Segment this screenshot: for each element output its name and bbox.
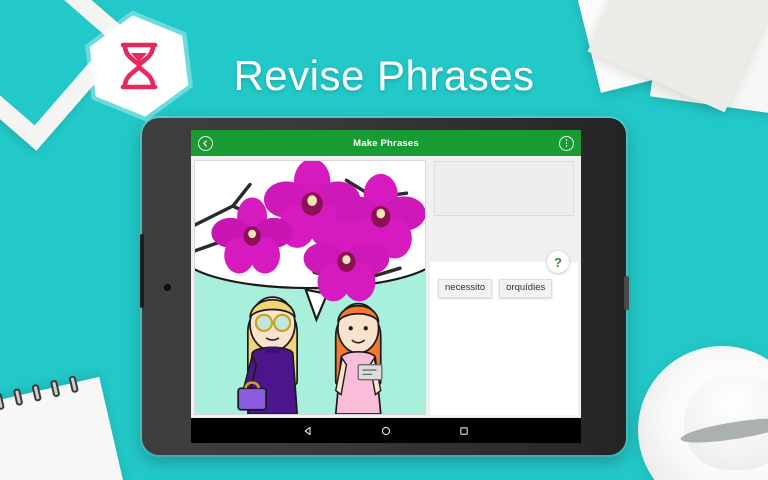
word-tile[interactable]: orquídies — [499, 279, 552, 298]
android-navigation-bar — [191, 418, 581, 443]
exercise-content: ? necessito orquídies — [191, 156, 581, 418]
notepad-spiral-rings — [0, 371, 95, 418]
answer-zone-spacer: ? — [430, 216, 578, 262]
panama-hat-decoration — [638, 346, 768, 480]
app-bar-title: Make Phrases — [191, 138, 581, 149]
answer-panel: ? necessito orquídies — [430, 160, 578, 415]
volume-button[interactable] — [140, 234, 144, 308]
circle-home-icon[interactable] — [381, 426, 391, 436]
word-tile[interactable]: necessito — [438, 279, 492, 298]
spiral-notepad-decoration — [0, 377, 133, 480]
app-bar: Make Phrases — [191, 130, 581, 156]
front-camera-dot — [164, 284, 171, 291]
illustration-panel[interactable] — [194, 160, 426, 415]
word-tiles-area: necessito orquídies — [430, 262, 578, 415]
chevron-left-circle-icon[interactable] — [198, 136, 213, 151]
tablet-device-frame: Make Phrases — [142, 118, 626, 455]
scene-illustration — [195, 161, 425, 414]
woman-right — [336, 304, 382, 414]
power-button[interactable] — [624, 276, 629, 310]
more-vertical-circle-icon[interactable] — [559, 136, 574, 151]
help-button[interactable]: ? — [547, 251, 569, 273]
promo-banner: Revise Phrases Make Phrases — [0, 0, 768, 480]
answer-drop-zone[interactable] — [434, 161, 574, 216]
page-title: Revise Phrases — [0, 52, 768, 100]
overflow-dots — [566, 139, 568, 147]
device-screen: Make Phrases — [191, 130, 581, 443]
square-recents-icon[interactable] — [459, 426, 469, 436]
triangle-back-icon[interactable] — [303, 426, 313, 436]
